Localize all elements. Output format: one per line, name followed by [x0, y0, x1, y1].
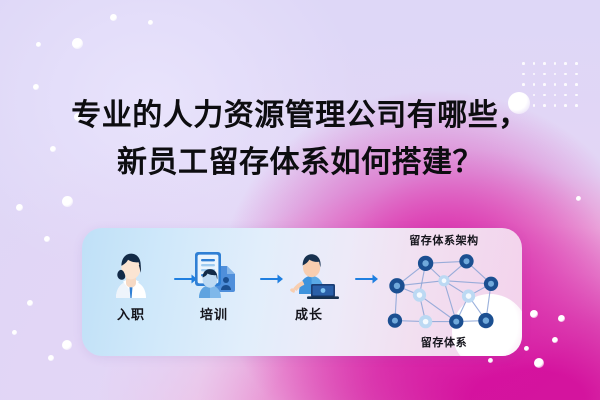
decorative-bokeh — [48, 355, 54, 361]
decorative-bokeh — [110, 14, 117, 21]
step-onboarding[interactable]: 入职 — [95, 244, 167, 323]
decorative-bokeh — [534, 358, 544, 368]
decorative-bokeh — [576, 196, 581, 201]
network-title: 留存体系架构 — [378, 232, 510, 248]
decorative-bokeh — [552, 337, 558, 343]
decorative-bokeh — [16, 204, 23, 211]
employee-woman-icon — [102, 244, 160, 300]
page-title: 专业的人力资源管理公司有哪些， 新员工留存体系如何搭建？ — [0, 92, 600, 186]
step-training[interactable]: 培训 — [178, 244, 250, 323]
decorative-bokeh — [524, 346, 529, 351]
step-growth[interactable]: 成长 — [270, 244, 348, 323]
step-label: 培训 — [178, 304, 250, 323]
poster-canvas: 专业的人力资源管理公司有哪些， 新员工留存体系如何搭建？ — [0, 0, 600, 400]
network-subtitle: 留存体系 — [378, 334, 510, 350]
process-panel: 入职 — [82, 228, 522, 356]
decorative-bokeh — [27, 300, 33, 306]
step-label: 成长 — [270, 304, 348, 323]
decorative-bokeh — [488, 358, 493, 363]
title-line-2: 新员工留存体系如何搭建？ — [0, 139, 600, 186]
training-document-icon — [185, 244, 243, 300]
decorative-bokeh — [62, 196, 73, 207]
decorative-bokeh — [558, 315, 565, 322]
retention-network-diagram — [378, 247, 510, 339]
decorative-bokeh — [62, 340, 72, 350]
decorative-bokeh — [12, 330, 17, 335]
step-label: 入职 — [95, 304, 167, 323]
growth-laptop-icon — [277, 244, 341, 300]
decorative-bokeh — [148, 20, 153, 25]
decorative-bokeh — [36, 42, 41, 47]
decorative-bokeh — [530, 310, 538, 318]
decorative-bokeh — [44, 236, 50, 242]
title-line-1: 专业的人力资源管理公司有哪些， — [0, 92, 600, 139]
decorative-bokeh — [33, 84, 39, 90]
decorative-bokeh — [72, 38, 83, 49]
